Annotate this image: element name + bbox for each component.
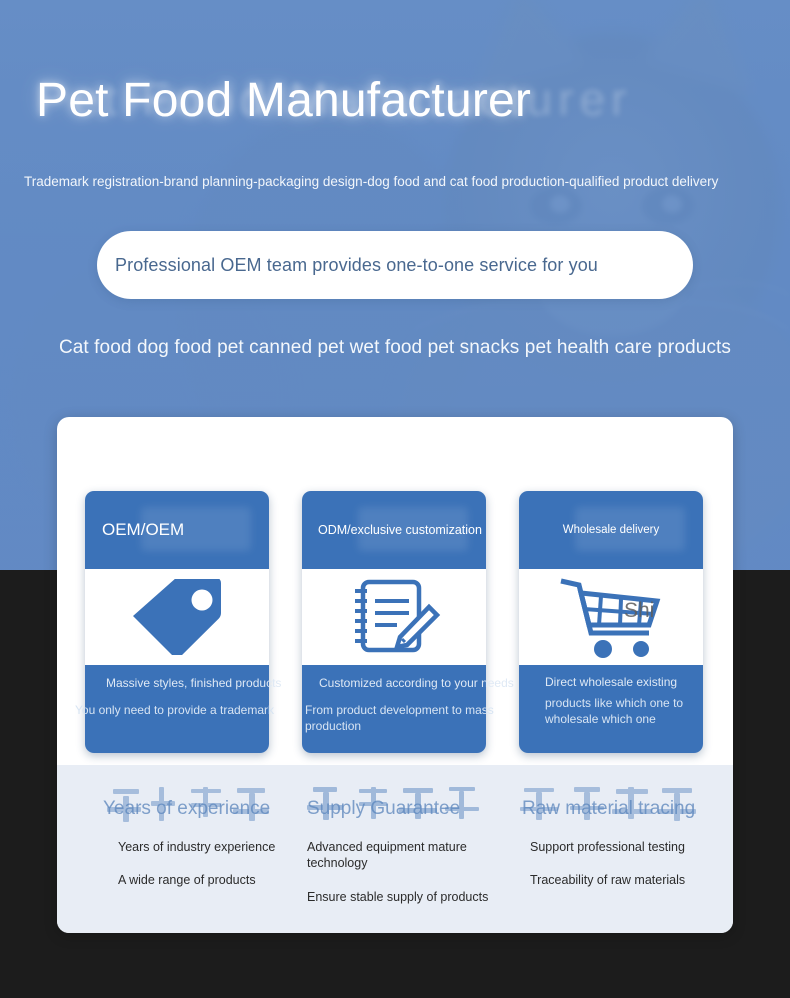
feature-line-ghost — [307, 917, 517, 931]
oem-service-banner[interactable]: Professional OEM team provides one-to-on… — [97, 231, 693, 299]
feature-heading: Supply Guarantee — [307, 795, 517, 823]
service-card-wholesale[interactable]: Wholesale delivery Shi — [519, 491, 703, 753]
service-card-line2: From product development to mass product… — [305, 702, 520, 734]
price-tag-icon — [131, 579, 223, 655]
feature-line-1: Advanced equipment mature technology — [307, 839, 517, 872]
service-card-title: Wholesale delivery — [563, 524, 660, 536]
service-cards: OEM/OEM Massive styles, finished product… — [85, 491, 705, 756]
service-card-header: Wholesale delivery — [519, 491, 703, 569]
cart-watermark-text: Shi — [624, 599, 654, 623]
service-card-header: OEM/OEM — [85, 491, 269, 569]
feature-heading: Raw material tracing — [522, 795, 707, 823]
service-card-odm[interactable]: ODM/exclusive customization — [302, 491, 486, 753]
features-section: Years of experience Years of industry ex… — [57, 765, 733, 933]
feature-heading: Years of experience — [103, 795, 303, 823]
hero-product-tagline: Cat food dog food pet canned pet wet foo… — [0, 337, 790, 359]
service-card-icon-area — [85, 569, 269, 665]
service-card-line1: Massive styles, finished products — [106, 676, 281, 690]
feature-line-2: Ensure stable supply of products — [307, 889, 517, 905]
feature-line-2: A wide range of products — [103, 872, 303, 888]
hero-subtitle: Trademark registration-brand planning-pa… — [24, 172, 772, 193]
feature-line-1: Years of industry experience — [103, 839, 303, 855]
service-card-line2: products like which one to wholesale whi… — [545, 695, 685, 727]
oem-service-banner-label: Professional OEM team provides one-to-on… — [97, 255, 598, 276]
feature-line-2: Traceability of raw materials — [522, 872, 707, 888]
service-card-title: ODM/exclusive customization — [302, 523, 482, 537]
service-card-line2: You only need to provide a trademark — [75, 702, 274, 718]
service-card-footer: Direct wholesale existing products like … — [519, 665, 703, 753]
content-panel: OEM/OEM Massive styles, finished product… — [57, 417, 733, 933]
service-card-header: ODM/exclusive customization — [302, 491, 486, 569]
notebook-pen-icon — [345, 575, 443, 659]
service-card-line1: Customized according to your needs — [319, 676, 514, 690]
service-card-footer: Customized according to your needs From … — [302, 665, 486, 753]
feature-column-supply: Supply Guarantee Advanced equipment matu… — [307, 795, 517, 931]
feature-column-traceability: Raw material tracing Support professiona… — [522, 795, 707, 889]
page-title: Pet Food Manufacturer — [36, 76, 531, 126]
service-card-icon-area: Shi — [519, 569, 703, 665]
feature-column-experience: Years of experience Years of industry ex… — [103, 795, 303, 889]
service-card-title: OEM/OEM — [85, 520, 184, 540]
feature-heading-label: Supply Guarantee — [307, 798, 460, 819]
feature-line-1: Support professional testing — [522, 839, 707, 855]
feature-heading-label: Years of experience — [103, 798, 270, 819]
service-card-oem[interactable]: OEM/OEM Massive styles, finished product… — [85, 491, 269, 753]
service-card-line1: Direct wholesale existing — [545, 675, 677, 689]
service-card-footer: Massive styles, finished products You on… — [85, 665, 269, 753]
feature-heading-label: Raw material tracing — [522, 798, 695, 819]
service-card-icon-area — [302, 569, 486, 665]
